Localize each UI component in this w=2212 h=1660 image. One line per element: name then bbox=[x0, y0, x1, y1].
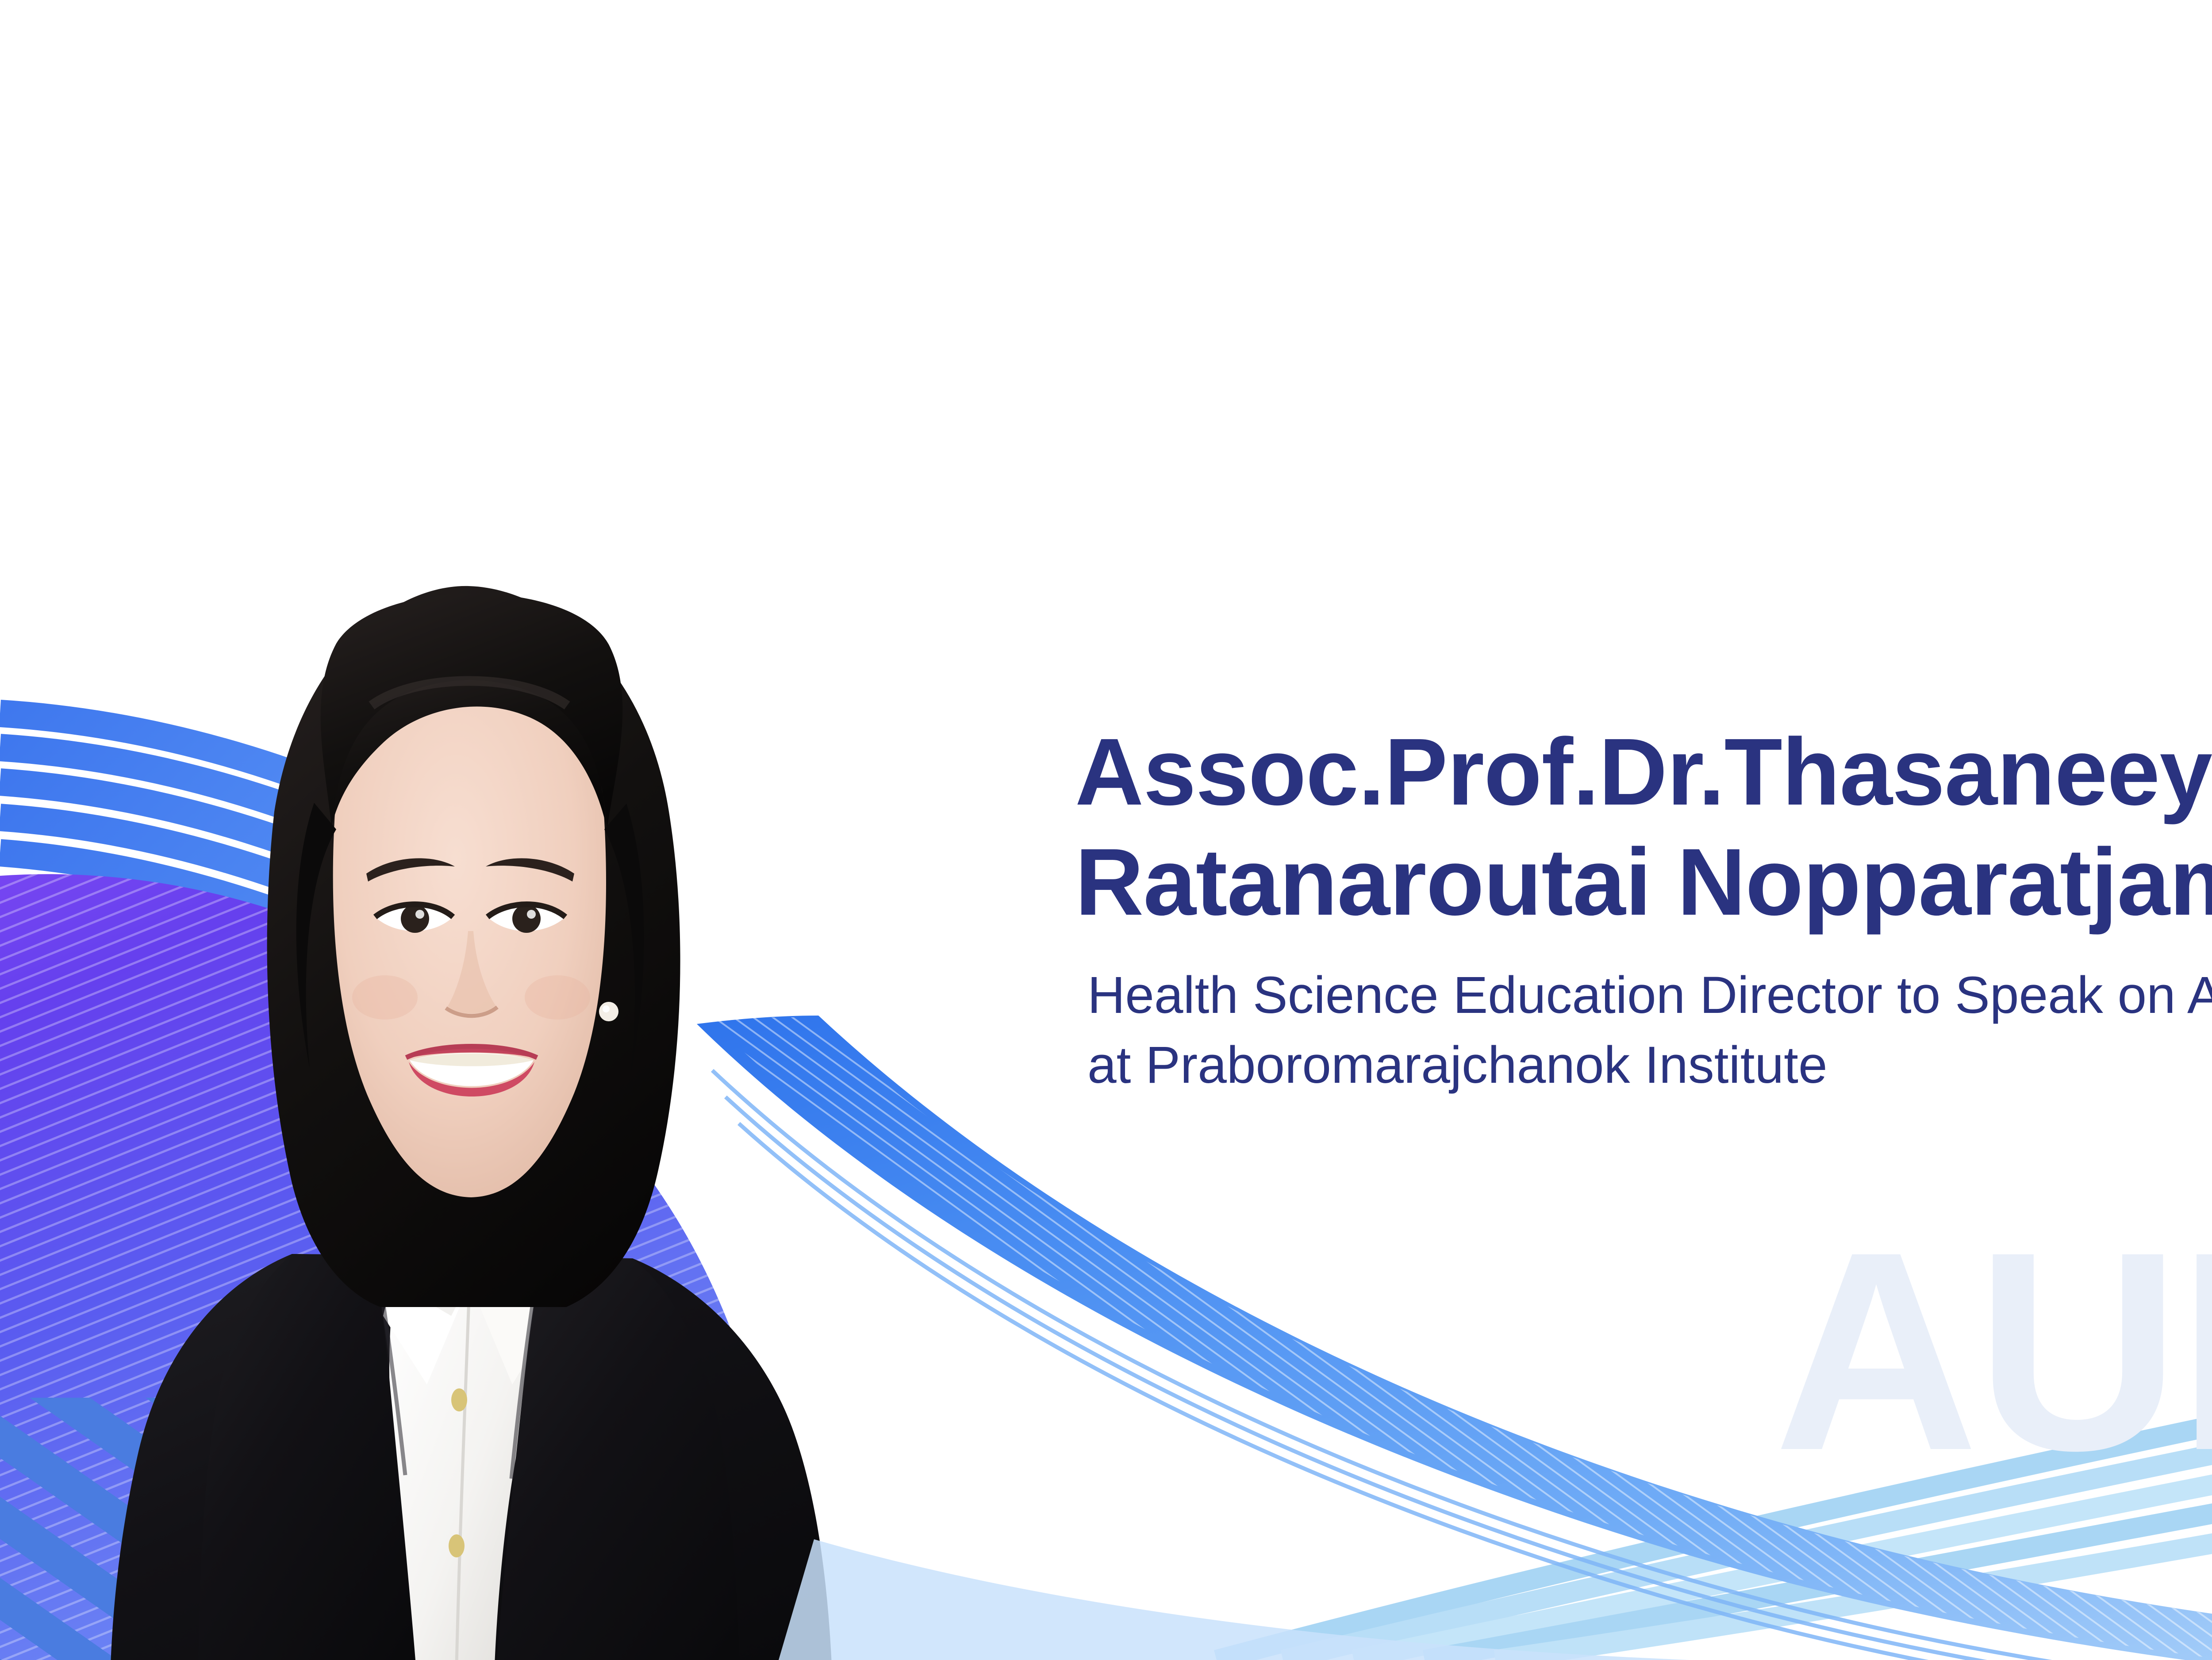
news-banner: AUN-QA bbox=[0, 0, 2212, 1660]
headline-line-2: Ratanaroutai Nopparatjamjomras bbox=[1075, 827, 2212, 937]
subheadline-line-2: at Praboromarajchanok Institute bbox=[1087, 1030, 2212, 1100]
page-subtitle: Health Science Education Director to Spe… bbox=[1087, 960, 2212, 1100]
subheadline-line-1: Health Science Education Director to Spe… bbox=[1087, 960, 2212, 1030]
headline-line-1: Assoc.Prof.Dr.Thasaneeya bbox=[1075, 717, 2212, 827]
text-block: Assoc.Prof.Dr.Thasaneeya Ratanaroutai No… bbox=[1075, 717, 2212, 1100]
page-title: Assoc.Prof.Dr.Thasaneeya Ratanaroutai No… bbox=[1075, 717, 2212, 937]
